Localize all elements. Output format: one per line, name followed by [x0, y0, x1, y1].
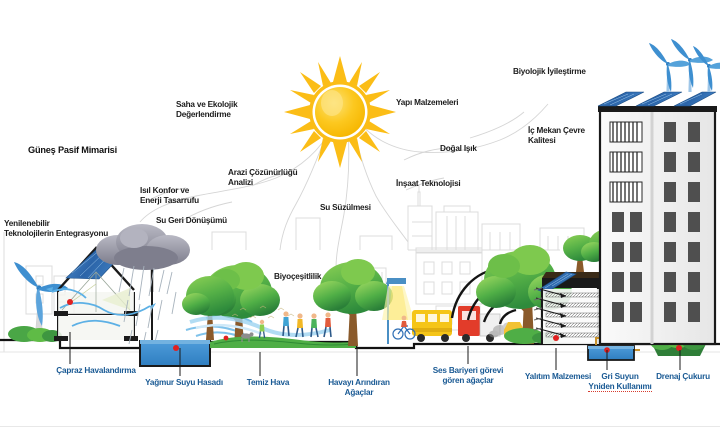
bicycle: [393, 326, 415, 339]
label-text-primary: Ses Bariyeri görevi gören ağaçlar: [433, 366, 503, 385]
label-dogal-isik: Doğal Işık: [440, 144, 477, 154]
infographic-canvas: Güneş Pasif MimarisiSaha ve Ekolojik Değ…: [0, 0, 720, 427]
label-isil-konfor-ve-enerji-tasarrufu: Isıl Konfor ve Enerji Tasarrufu: [140, 186, 199, 205]
label-biyolojik-iyilestirme: Biyolojik İyileştirme: [513, 67, 586, 77]
tree-left-pond: [182, 276, 234, 340]
rooftop-solar-array: [598, 92, 716, 106]
scene-illustration: [0, 0, 720, 427]
greywater-tank: [588, 346, 634, 360]
label-biyocesitlilik: Biyoçeşitlilik: [274, 272, 321, 282]
cyclist-person: [401, 316, 407, 327]
label-gunes-pasif-mimarisi: Güneş Pasif Mimarisi: [28, 145, 117, 156]
label-ses-bariyeri-goren-agaclar: Ses Bariyeri görevi gören ağaçlar: [420, 366, 516, 385]
label-text-primary: Temiz Hava: [247, 378, 289, 387]
label-saha-ve-ekolojik-degerlendirme: Saha ve Ekolojik Değerlendirme: [176, 100, 237, 119]
label-text-primary: Havayı Arındıran Ağaçlar: [328, 378, 390, 397]
louvre-windows: [610, 122, 642, 202]
label-su-suzulmesi: Su Süzülmesi: [320, 203, 371, 213]
label-yapi-malzemeleri: Yapı Malzemeleri: [396, 98, 458, 108]
label-text-primary: Çapraz Havalandırma: [56, 366, 135, 375]
label-havayi-arindiran-agaclar: Havayı Arındıran Ağaçlar: [317, 378, 401, 397]
label-insaat-teknolojisi: İnşaat Teknolojisi: [396, 179, 461, 189]
label-capraz-havalandirma: Çapraz Havalandırma: [36, 366, 156, 376]
rainwater-pond: [140, 340, 210, 366]
label-text-secondary: Yniden Kullanımı: [588, 382, 651, 392]
label-text-primary: Yağmur Suyu Hasadı: [145, 378, 223, 387]
rain-cloud: [96, 224, 190, 270]
label-yagmur-suyu-hasadi: Yağmur Suyu Hasadı: [128, 378, 240, 388]
label-text-primary: Gri Suyun: [601, 372, 638, 381]
label-arazi-cozunurlugu-analizi: Arazi Çözünürlüğü Analizi: [228, 168, 297, 187]
label-text-primary: Drenaj Çukuru: [656, 372, 710, 381]
bus-vehicle: [412, 310, 452, 342]
label-temiz-hava: Temiz Hava: [233, 378, 303, 388]
label-drenaj-cukuru: Drenaj Çukuru: [646, 372, 720, 382]
sun-icon: [284, 56, 396, 168]
label-su-geri-donusumu: Su Geri Dönüşümü: [156, 216, 227, 226]
shrub-group-left: [8, 326, 62, 342]
label-yenilenebilir-teknolojilerin-entegrasyonu: Yenilenebilir Teknolojilerin Entegrasyon…: [4, 219, 108, 238]
tall-apartment-block: [598, 106, 717, 344]
label-ic-mekan-cevre-kalitesi: İç Mekan Çevre Kalitesi: [528, 126, 585, 145]
rooftop-wind-turbines: [649, 39, 720, 92]
